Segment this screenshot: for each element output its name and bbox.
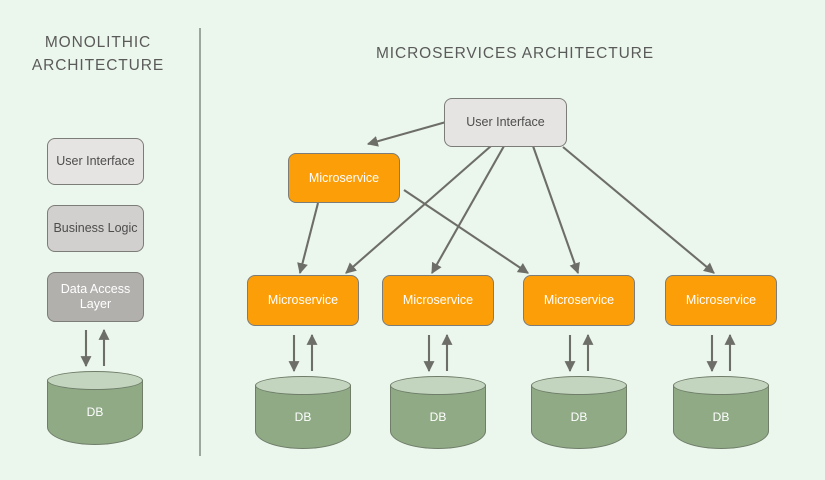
micro-database-4[interactable]: DB bbox=[673, 376, 769, 449]
mono-database[interactable]: DB bbox=[47, 371, 143, 445]
micro-service-1[interactable]: Microservice bbox=[247, 275, 359, 326]
arrow-ui-to-service-3 bbox=[533, 146, 578, 273]
arrow-ui-to-service-2 bbox=[432, 146, 504, 273]
mono-layer-business-logic[interactable]: Business Logic bbox=[47, 205, 144, 252]
mono-layer-label: Data Access Layer bbox=[48, 282, 143, 312]
db-label: DB bbox=[47, 371, 143, 445]
micro-database-3[interactable]: DB bbox=[531, 376, 627, 449]
arrow-top-service-to-service-3 bbox=[404, 190, 528, 273]
micro-database-1[interactable]: DB bbox=[255, 376, 351, 449]
db-label: DB bbox=[531, 376, 627, 449]
diagram-canvas: MONOLITHIC ARCHITECTURE MICROSERVICES AR… bbox=[0, 0, 825, 480]
section-divider bbox=[199, 28, 201, 456]
micro-service-label: Microservice bbox=[309, 171, 379, 186]
db-label: DB bbox=[673, 376, 769, 449]
arrow-top-service-to-service-1 bbox=[300, 203, 318, 273]
micro-service-3[interactable]: Microservice bbox=[523, 275, 635, 326]
arrow-ui-to-service-top bbox=[368, 122, 446, 144]
micro-service-label: Microservice bbox=[268, 293, 338, 308]
micro-service-2[interactable]: Microservice bbox=[382, 275, 494, 326]
microservices-architecture-title: MICROSERVICES ARCHITECTURE bbox=[205, 42, 825, 65]
micro-service-label: Microservice bbox=[544, 293, 614, 308]
db-label: DB bbox=[390, 376, 486, 449]
mono-layer-data-access-layer[interactable]: Data Access Layer bbox=[47, 272, 144, 322]
micro-service-label: Microservice bbox=[686, 293, 756, 308]
arrow-ui-to-service-4 bbox=[563, 147, 714, 273]
micro-service-4[interactable]: Microservice bbox=[665, 275, 777, 326]
db-label: DB bbox=[255, 376, 351, 449]
mono-layer-label: User Interface bbox=[56, 154, 135, 169]
micro-ui-label: User Interface bbox=[466, 115, 545, 130]
micro-database-2[interactable]: DB bbox=[390, 376, 486, 449]
micro-user-interface[interactable]: User Interface bbox=[444, 98, 567, 147]
mono-layer-label: Business Logic bbox=[53, 221, 137, 236]
micro-service-top[interactable]: Microservice bbox=[288, 153, 400, 203]
mono-layer-user-interface[interactable]: User Interface bbox=[47, 138, 144, 185]
monolithic-architecture-title: MONOLITHIC ARCHITECTURE bbox=[0, 31, 196, 77]
micro-service-label: Microservice bbox=[403, 293, 473, 308]
